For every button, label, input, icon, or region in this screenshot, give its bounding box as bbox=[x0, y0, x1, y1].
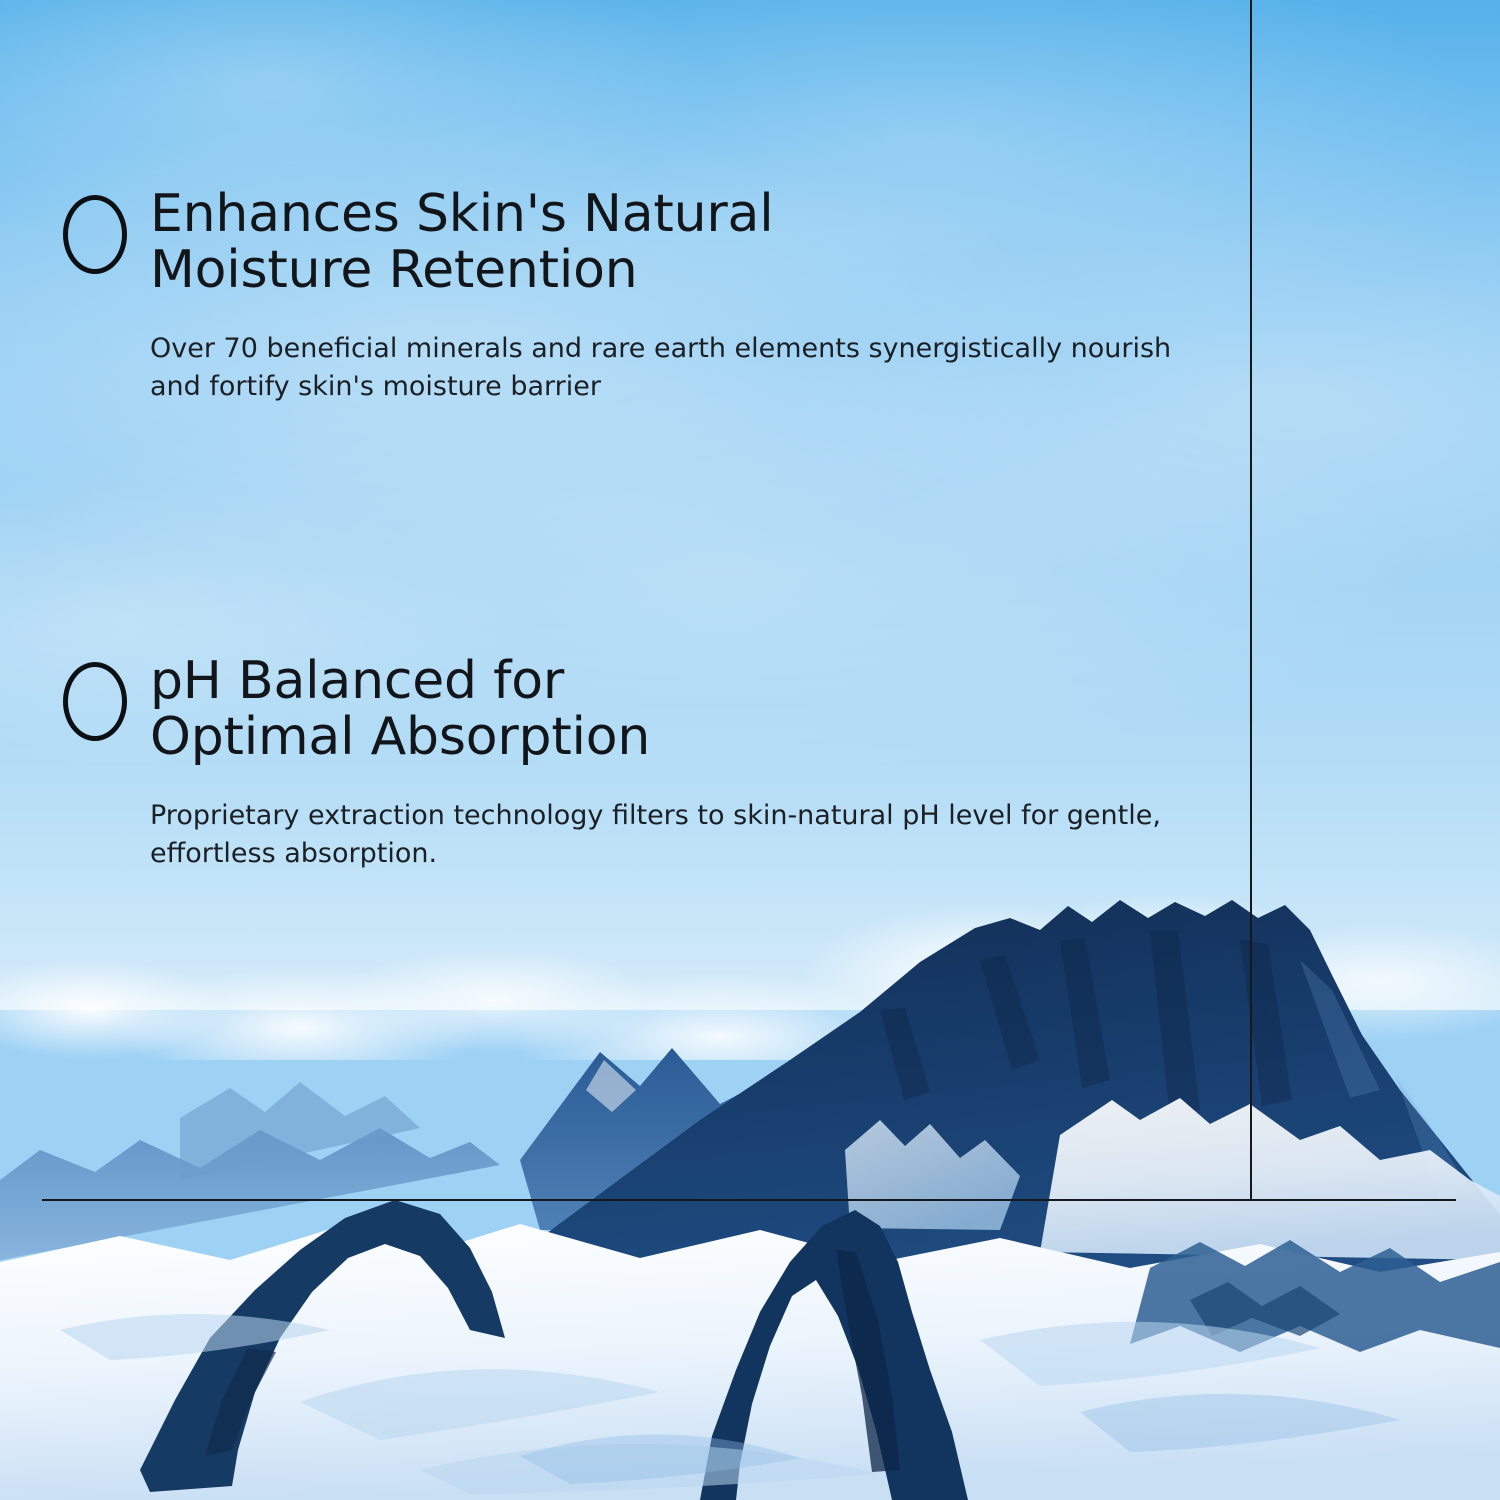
vertical-rule-line bbox=[1250, 0, 1252, 1201]
feature-block-moisture-retention: Enhances Skin's Natural Moisture Retenti… bbox=[62, 186, 1182, 406]
feature-heading-row: pH Balanced for Optimal Absorption bbox=[62, 653, 1182, 765]
circle-outline-icon bbox=[63, 195, 127, 274]
product-feature-slide: Enhances Skin's Natural Moisture Retenti… bbox=[0, 0, 1500, 1500]
circle-outline-icon bbox=[63, 662, 127, 741]
feature-title: pH Balanced for Optimal Absorption bbox=[150, 653, 1182, 765]
feature-description: Proprietary extraction technology filter… bbox=[62, 765, 1182, 873]
feature-block-ph-balanced: pH Balanced for Optimal Absorption Propr… bbox=[62, 653, 1182, 873]
feature-title: Enhances Skin's Natural Moisture Retenti… bbox=[150, 186, 1182, 298]
feature-heading-row: Enhances Skin's Natural Moisture Retenti… bbox=[62, 186, 1182, 298]
feature-description: Over 70 beneficial minerals and rare ear… bbox=[62, 298, 1182, 406]
horizontal-rule-line bbox=[42, 1199, 1456, 1201]
